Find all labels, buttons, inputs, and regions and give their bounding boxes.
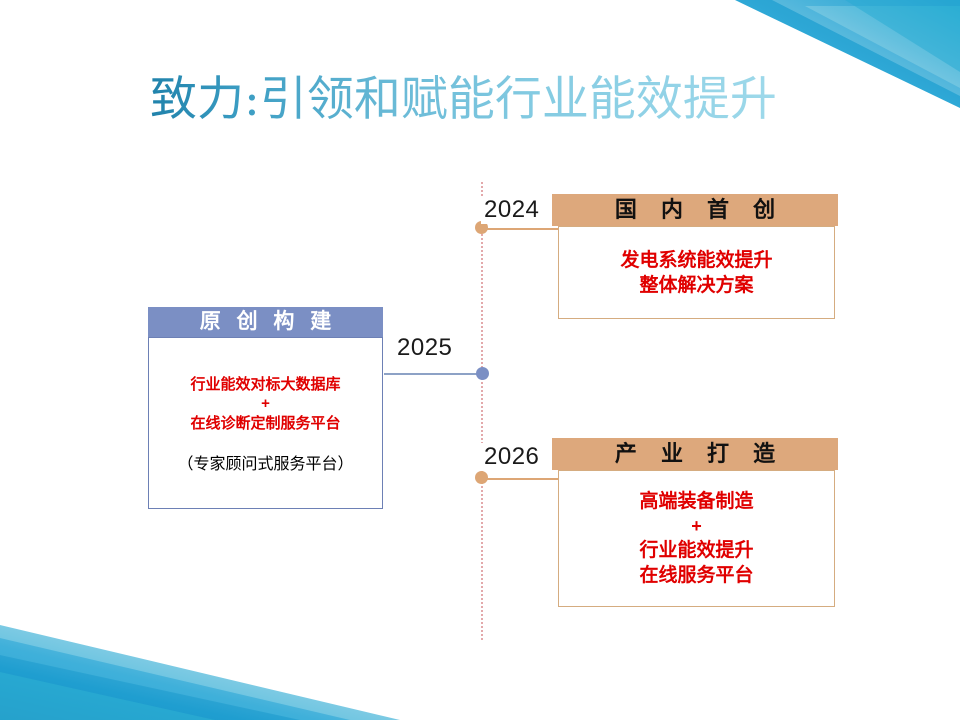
timeline-connector-2025 <box>384 373 482 375</box>
card-bottom-line-1: 高端装备制造 <box>639 489 753 514</box>
card-domestic-first-header: 国 内 首 创 <box>552 194 838 226</box>
timeline-dot-2025[interactable] <box>476 367 489 380</box>
card-left-line-1: 行业能效对标大数据库 <box>190 374 340 395</box>
card-original-construction-body: 行业能效对标大数据库 + 在线诊断定制服务平台 （专家顾问式服务平台） <box>148 337 383 509</box>
card-original-construction-header: 原 创 构 建 <box>148 307 383 337</box>
card-original-construction[interactable]: 原 创 构 建 行业能效对标大数据库 + 在线诊断定制服务平台 （专家顾问式服务… <box>148 307 383 509</box>
timeline-connector-2026 <box>482 478 558 480</box>
card-top-line-2: 整体解决方案 <box>639 273 753 298</box>
timeline-dot-2026[interactable] <box>475 471 488 484</box>
card-top-line-1: 发电系统能效提升 <box>620 248 772 273</box>
page-title: 致力:引领和赋能行业能效提升 <box>150 68 777 132</box>
card-industry-building-body: 高端装备制造 + 行业能效提升 在线服务平台 <box>558 470 835 607</box>
card-industry-building-header: 产 业 打 造 <box>552 438 838 470</box>
card-bottom-line-4: 在线服务平台 <box>639 563 753 588</box>
timeline-year-2025: 2025 <box>394 334 455 362</box>
card-bottom-line-3: 行业能效提升 <box>639 538 753 563</box>
card-left-line-3: 在线诊断定制服务平台 <box>190 413 340 434</box>
card-bottom-line-2: + <box>691 514 702 538</box>
timeline-year-2024: 2024 <box>481 196 542 224</box>
card-left-line-2: + <box>261 395 270 413</box>
timeline-connector-2024 <box>482 228 558 230</box>
card-domestic-first[interactable]: 国 内 首 创 发电系统能效提升 整体解决方案 <box>552 194 838 319</box>
timeline-year-2026: 2026 <box>481 443 542 471</box>
card-domestic-first-body: 发电系统能效提升 整体解决方案 <box>558 226 835 319</box>
timeline-axis <box>481 182 483 640</box>
card-left-note: （专家顾问式服务平台） <box>177 454 353 476</box>
card-industry-building[interactable]: 产 业 打 造 高端装备制造 + 行业能效提升 在线服务平台 <box>552 438 838 607</box>
